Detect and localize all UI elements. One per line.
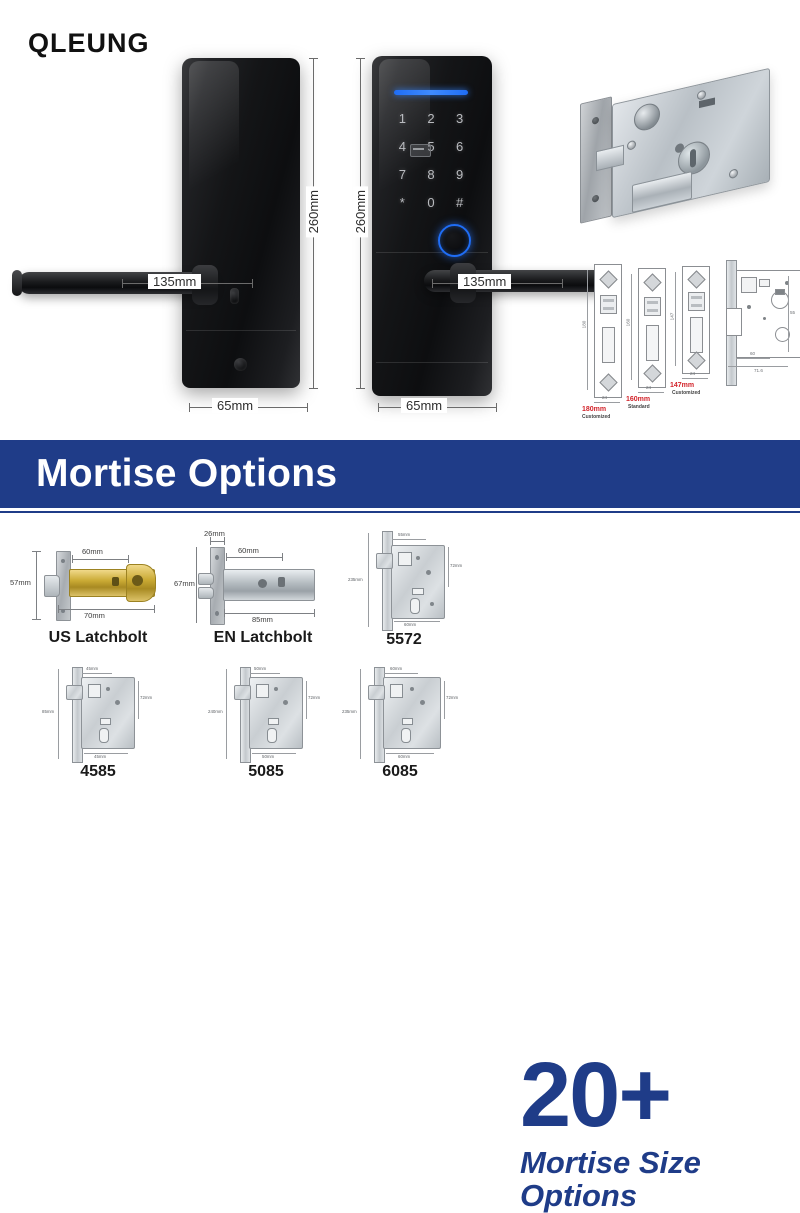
mortise-label-us-latchbolt: US Latchbolt — [8, 629, 188, 647]
lock-front-panel: 1 2 3 4 5 6 7 8 9 * 0 # — [372, 56, 507, 396]
keypad[interactable]: 1 2 3 4 5 6 7 8 9 * 0 # — [388, 104, 474, 216]
handle-cap — [12, 270, 22, 296]
promo-line-1: Mortise Size — [520, 1146, 790, 1179]
key-2[interactable]: 2 — [417, 104, 446, 132]
promo-block: 20+ Mortise Size Options — [520, 1053, 790, 1213]
panel-seam — [376, 362, 488, 363]
banner-underline — [0, 511, 800, 513]
key-7[interactable]: 7 — [388, 160, 417, 188]
latchbolt-body — [223, 569, 315, 601]
key-6[interactable]: 6 — [445, 132, 474, 160]
mortise-item-5572: 235mm 55mm 72mm 60mm 5572 — [336, 527, 472, 649]
key-9[interactable]: 9 — [445, 160, 474, 188]
faceplate-technical-drawings: 180 24 180mm Customized 160 24 160mm — [576, 256, 792, 416]
key-3[interactable]: 3 — [445, 104, 474, 132]
mortise-item-en-latchbolt: 26mm 67mm 60mm 85mm EN Latchbolt — [188, 529, 338, 647]
mortise-label-en-latchbolt: EN Latchbolt — [188, 629, 338, 647]
mortise-label-4585: 4585 — [18, 763, 178, 781]
mortise-label-5572: 5572 — [336, 631, 472, 649]
thumb-knob — [234, 358, 247, 371]
rfid-card-icon — [410, 144, 431, 157]
mortise-item-6085: 235mm 60mm 72mm 60mm 6085 — [320, 663, 480, 781]
promo-line-2: Options — [520, 1179, 790, 1212]
mortise-item-4585: 85mm 45mm 72mm 45mm 4585 — [18, 663, 178, 781]
status-led-bar — [394, 90, 468, 95]
lock-rear-body — [182, 58, 300, 388]
mortise-label-6085: 6085 — [320, 763, 480, 781]
key-0[interactable]: 0 — [417, 188, 446, 216]
latch-tongue — [44, 575, 60, 597]
panel-seam — [186, 330, 296, 331]
mortise-lock-photo — [578, 82, 790, 232]
banner-title: Mortise Options — [36, 452, 337, 496]
mortise-item-us-latchbolt: 57mm 60mm 70mm US Latchbolt — [8, 537, 188, 647]
product-showcase: 1 2 3 4 5 6 7 8 9 * 0 # — [0, 0, 800, 435]
panel-seam — [376, 252, 488, 253]
product-infographic: QLEUNG 1 2 3 4 5 6 7 8 — [0, 0, 800, 800]
handle-collar — [230, 288, 239, 304]
key-8[interactable]: 8 — [417, 160, 446, 188]
promo-count: 20+ — [520, 1053, 790, 1138]
lock-rear-panel — [182, 58, 307, 388]
mortise-options-banner: Mortise Options — [0, 440, 800, 508]
key-star[interactable]: * — [388, 188, 417, 216]
mortise-options-grid: 57mm 60mm 70mm US Latchbolt — [0, 515, 800, 800]
key-hash[interactable]: # — [445, 188, 474, 216]
fingerprint-sensor[interactable] — [438, 224, 471, 257]
key-1[interactable]: 1 — [388, 104, 417, 132]
